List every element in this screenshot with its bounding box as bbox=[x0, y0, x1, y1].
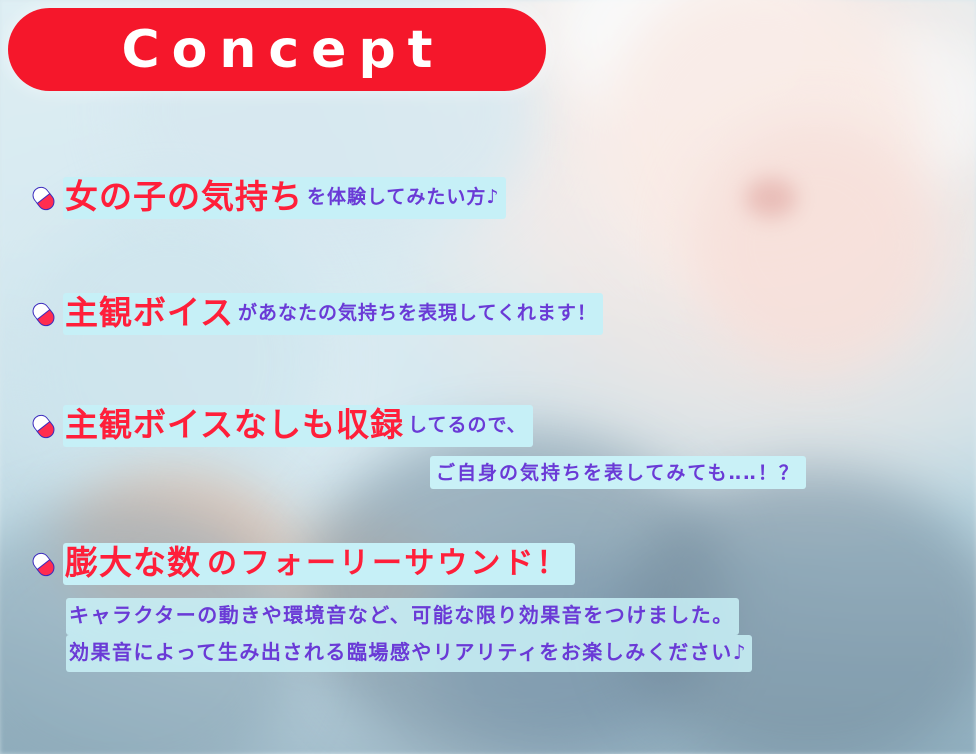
bullet-4-headline: 膨大な数 bbox=[65, 543, 201, 582]
bullet-4-tail: のフォーリーサウンド！ bbox=[207, 546, 569, 581]
page-title-pill: Concept bbox=[8, 8, 546, 91]
concept-slide: Concept 女の子の気持ちを体験してみたい方♪ 主観ボイスがあなたの気持ちを… bbox=[0, 0, 976, 754]
bullet-row-4: 膨大な数のフォーリーサウンド！ bbox=[30, 543, 575, 585]
bullet-1-headline: 女の子の気持ち bbox=[65, 177, 303, 216]
bullet-3-tail: してるので、 bbox=[408, 414, 527, 436]
bullet-row-3: 主観ボイスなしも収録してるので、 bbox=[30, 405, 533, 447]
bullet-2-headline: 主観ボイス bbox=[65, 293, 234, 332]
footnote-line-1: キャラクターの動きや環境音など、可能な限り効果音をつけました。 bbox=[66, 598, 739, 635]
bullet-1-text: 女の子の気持ちを体験してみたい方♪ bbox=[63, 177, 506, 219]
bullet-3-headline: 主観ボイスなしも収録 bbox=[65, 405, 404, 444]
bullet-1-tail: を体験してみたい方♪ bbox=[307, 186, 500, 208]
capsule-icon bbox=[25, 295, 63, 333]
bullet-row-2: 主観ボイスがあなたの気持ちを表現してくれます！ bbox=[30, 293, 603, 335]
bullet-2-text: 主観ボイスがあなたの気持ちを表現してくれます！ bbox=[63, 293, 603, 335]
footnotes: キャラクターの動きや環境音など、可能な限り効果音をつけました。 効果音によって生… bbox=[66, 598, 752, 672]
capsule-icon bbox=[25, 179, 63, 217]
capsule-icon bbox=[25, 407, 63, 445]
capsule-icon bbox=[25, 545, 63, 583]
page-title: Concept bbox=[109, 24, 444, 76]
bullet-2-tail: があなたの気持ちを表現してくれます！ bbox=[238, 302, 597, 324]
footnote-line-2: 効果音によって生み出される臨場感やリアリティをお楽しみください♪ bbox=[66, 635, 752, 672]
bullet-row-1: 女の子の気持ちを体験してみたい方♪ bbox=[30, 177, 506, 219]
bullet-3-note: ご自身の気持ちを表してみても‥‥！？ bbox=[430, 456, 806, 489]
bullet-4-text: 膨大な数のフォーリーサウンド！ bbox=[63, 543, 575, 585]
bullet-3-text: 主観ボイスなしも収録してるので、 bbox=[63, 405, 533, 447]
